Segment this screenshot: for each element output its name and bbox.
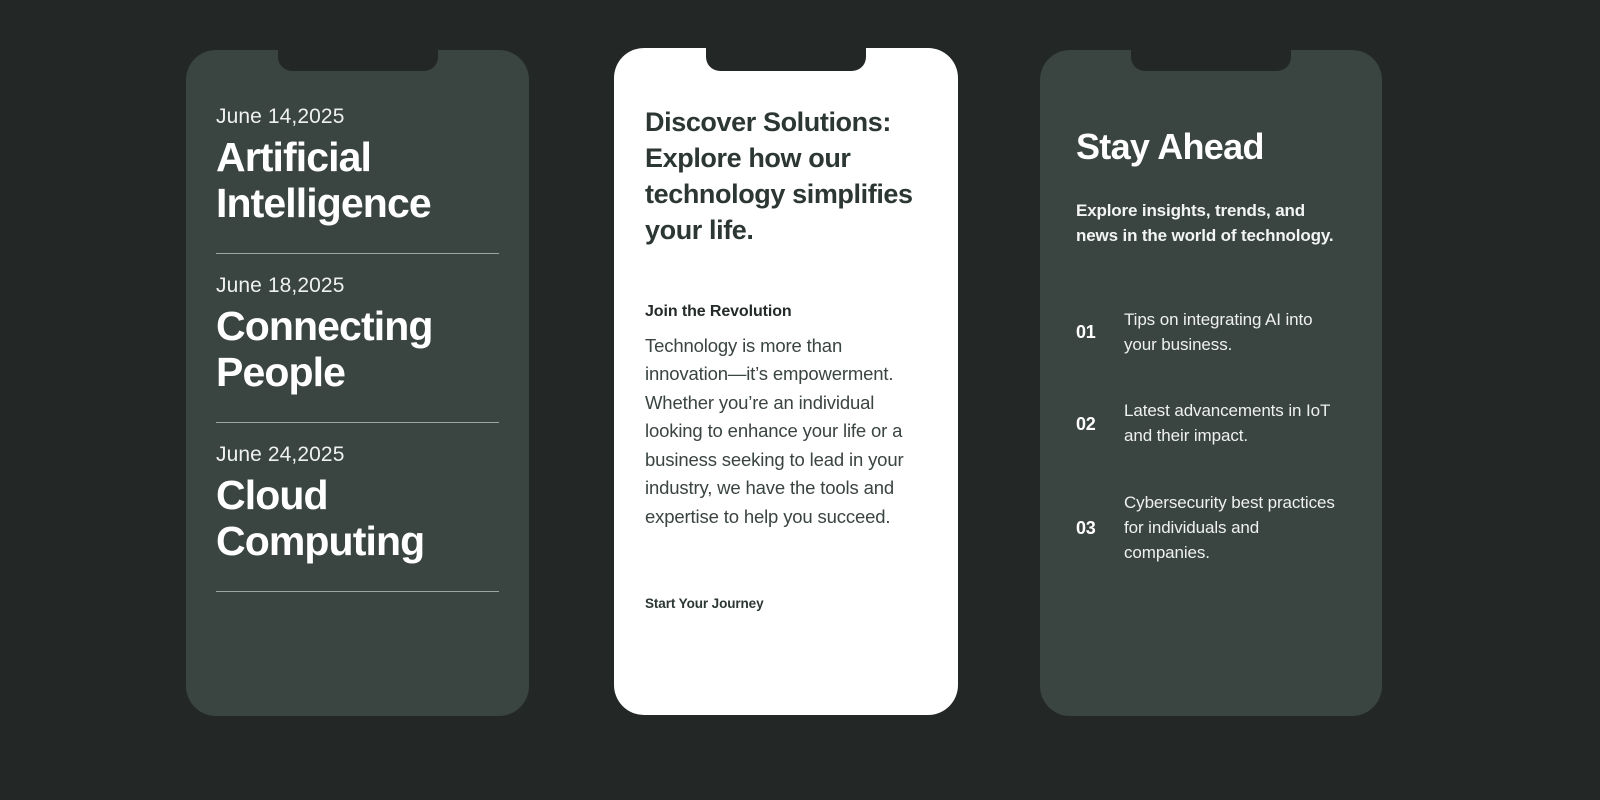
list-item[interactable]: June 14,2025 Artificial Intelligence (216, 105, 499, 231)
phone-card-news: June 14,2025 Artificial Intelligence Jun… (186, 50, 529, 716)
list-item[interactable]: 01 Tips on integrating AI into your busi… (1076, 308, 1346, 358)
list-item[interactable]: June 18,2025 Connecting People (216, 274, 499, 400)
canvas: June 14,2025 Artificial Intelligence Jun… (0, 0, 1600, 800)
news-title: Cloud Computing (216, 473, 499, 565)
phone-card-stay-ahead: Stay Ahead Explore insights, trends, and… (1040, 50, 1382, 716)
news-title: Connecting People (216, 304, 499, 396)
divider (216, 422, 499, 423)
news-screen: June 14,2025 Artificial Intelligence Jun… (186, 50, 529, 716)
divider (216, 591, 499, 592)
news-date: June 14,2025 (216, 105, 499, 128)
list-item-number: 02 (1076, 414, 1102, 435)
hero-screen: Discover Solutions: Explore how our tech… (614, 48, 958, 715)
phone-card-hero: Discover Solutions: Explore how our tech… (614, 48, 958, 715)
list-item-label: Latest advancements in IoT and their imp… (1124, 399, 1346, 449)
list-item[interactable]: 03 Cybersecurity best practices for indi… (1076, 491, 1346, 565)
phone-notch-icon (706, 48, 866, 71)
page-title: Discover Solutions: Explore how our tech… (645, 105, 927, 249)
list-item-label: Cybersecurity best practices for individ… (1124, 491, 1346, 565)
news-date: June 24,2025 (216, 443, 499, 466)
section-heading: Join the Revolution (645, 303, 927, 321)
numbered-list: 01 Tips on integrating AI into your busi… (1076, 308, 1346, 566)
news-date: June 18,2025 (216, 274, 499, 297)
news-list: June 14,2025 Artificial Intelligence Jun… (216, 50, 499, 592)
list-item[interactable]: June 24,2025 Cloud Computing (216, 443, 499, 569)
list-item-number: 01 (1076, 322, 1102, 343)
divider (216, 253, 499, 254)
subtitle-text: Explore insights, trends, and news in th… (1076, 199, 1346, 249)
list-item-number: 03 (1076, 518, 1102, 539)
list-item[interactable]: 02 Latest advancements in IoT and their … (1076, 399, 1346, 449)
news-title: Artificial Intelligence (216, 135, 499, 227)
phone-notch-icon (1131, 50, 1291, 71)
list-item-label: Tips on integrating AI into your busines… (1124, 308, 1346, 358)
phone-notch-icon (278, 50, 438, 71)
page-title: Stay Ahead (1076, 128, 1346, 166)
body-text: Technology is more than innovation—it’s … (645, 332, 927, 531)
stay-ahead-screen: Stay Ahead Explore insights, trends, and… (1040, 50, 1382, 716)
start-your-journey-button[interactable]: Start Your Journey (645, 596, 927, 611)
